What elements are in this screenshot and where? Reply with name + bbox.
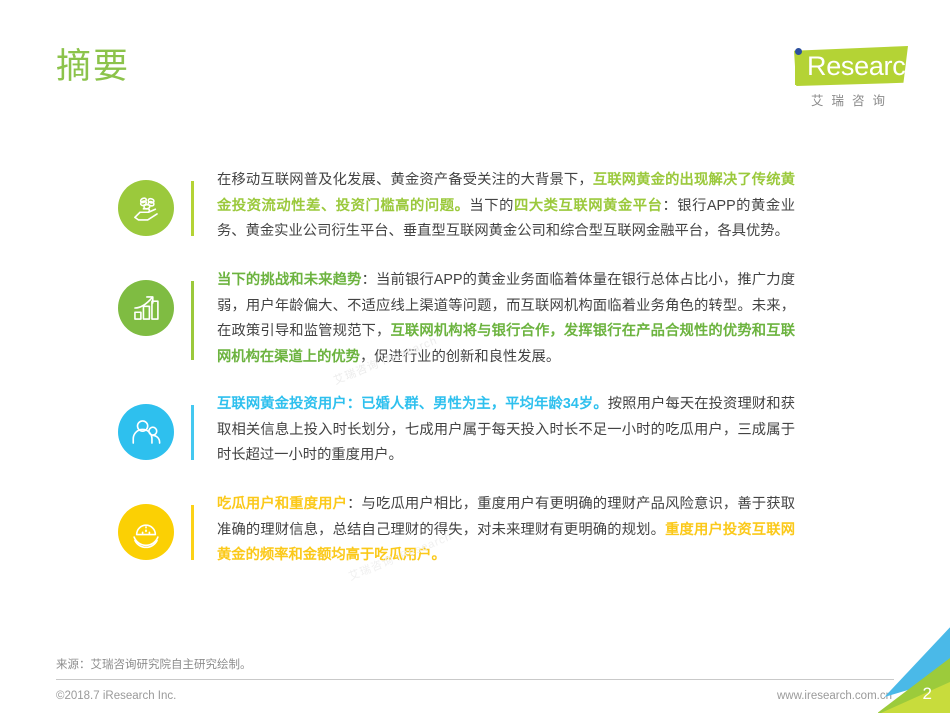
- body-text: ，促进行业的创新和良性发展。: [360, 349, 560, 365]
- summary-block: 当下的挑战和未来趋势：当前银行APP的黄金业务面临着体量在银行总体占比小，推广力…: [0, 268, 950, 370]
- summary-blocks: 在移动互联网普及化发展、黄金资产备受关注的大背景下，互联网黄金的出现解决了传统黄…: [0, 168, 950, 592]
- watermelon-slice-icon: [118, 504, 174, 560]
- block-paragraph: 吃瓜用户和重度用户：与吃瓜用户相比，重度用户有更明确的理财产品风险意识，善于获取…: [217, 492, 795, 569]
- logo-wordmark: Research: [807, 48, 920, 84]
- footer-divider: [56, 679, 894, 680]
- summary-block: 吃瓜用户和重度用户：与吃瓜用户相比，重度用户有更明确的理财产品风险意识，善于获取…: [0, 492, 950, 570]
- website-link[interactable]: www.iresearch.com.cn: [777, 690, 892, 702]
- bar-chart-growth-icon: [118, 280, 174, 336]
- block-divider: [191, 405, 194, 460]
- highlighted-text: 当下的挑战和未来趋势: [217, 272, 362, 288]
- highlighted-text: 四大类互联网黄金平台: [514, 198, 662, 214]
- hand-with-coins-icon: [118, 180, 174, 236]
- iresearch-logo: Research 艾瑞咨询: [780, 44, 908, 112]
- corner-decoration: [878, 627, 950, 713]
- body-text: 当下的: [469, 198, 514, 214]
- block-paragraph: 互联网黄金投资用户：已婚人群、男性为主，平均年龄34岁。按照用户每天在投资理财和…: [217, 392, 795, 469]
- users-group-icon: [118, 404, 174, 460]
- logo-mark: Research: [780, 44, 908, 88]
- logo-subtitle: 艾瑞咨询: [796, 90, 908, 109]
- highlighted-text: 互联网黄金投资用户：已婚人群、男性为主，平均年龄34岁。: [217, 396, 608, 412]
- block-divider: [191, 181, 194, 236]
- block-divider: [191, 281, 194, 360]
- block-divider: [191, 505, 194, 560]
- summary-block: 互联网黄金投资用户：已婚人群、男性为主，平均年龄34岁。按照用户每天在投资理财和…: [0, 392, 950, 470]
- highlighted-text: 吃瓜用户和重度用户: [217, 496, 347, 512]
- logo-i-stem: [795, 58, 802, 85]
- page-number: 2: [923, 684, 932, 704]
- body-text: 在移动互联网普及化发展、黄金资产备受关注的大背景下，: [217, 172, 593, 188]
- block-paragraph: 当下的挑战和未来趋势：当前银行APP的黄金业务面临着体量在银行总体占比小，推广力…: [217, 268, 795, 370]
- summary-block: 在移动互联网普及化发展、黄金资产备受关注的大背景下，互联网黄金的出现解决了传统黄…: [0, 168, 950, 246]
- block-paragraph: 在移动互联网普及化发展、黄金资产备受关注的大背景下，互联网黄金的出现解决了传统黄…: [217, 168, 795, 245]
- source-note: 来源：艾瑞咨询研究院自主研究绘制。: [56, 656, 252, 672]
- logo-i-dot-icon: [795, 48, 802, 55]
- page-title: 摘要: [56, 46, 130, 88]
- copyright-text: ©2018.7 iResearch Inc.: [56, 690, 176, 702]
